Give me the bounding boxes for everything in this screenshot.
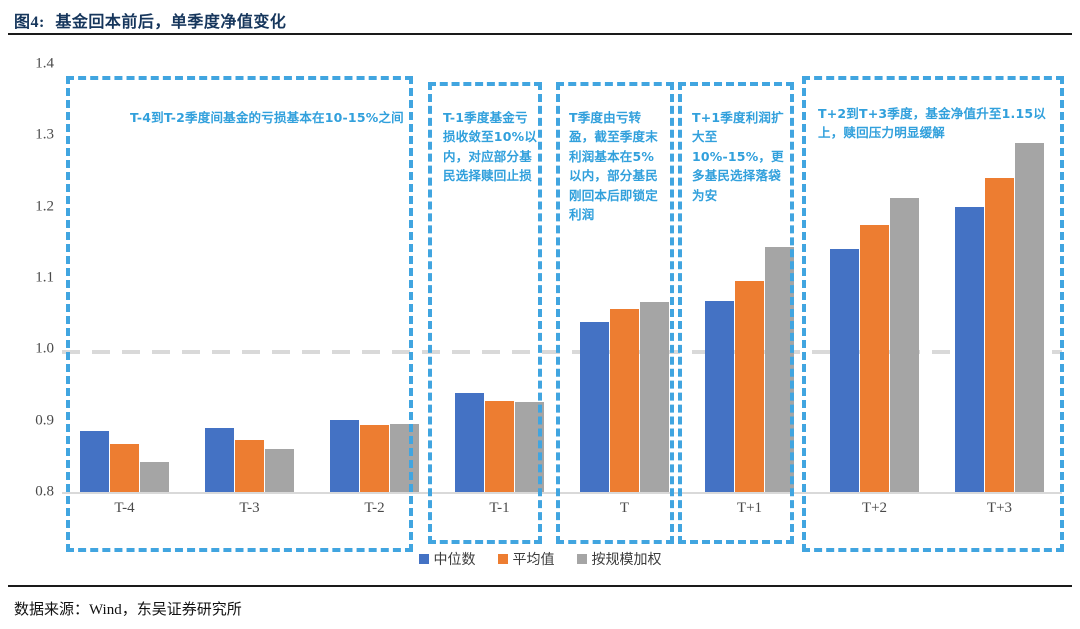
legend-swatch-icon (419, 554, 429, 564)
y-axis: 0.80.91.01.11.21.31.4 (0, 0, 62, 560)
legend-item-0[interactable]: 中位数 (419, 549, 476, 569)
bar-t-3-series-1 (235, 440, 264, 492)
y-tick-label: 1.3 (35, 127, 54, 144)
bar-tplus3-series-0 (955, 207, 984, 492)
anno-tplus2-3-text: T+2到T+3季度，基金净值升至1.15以上，赎回压力明显缓解 (818, 104, 1048, 143)
x-tick-label: T+2 (862, 500, 887, 517)
legend-item-1[interactable]: 平均值 (498, 549, 555, 569)
bar-t-1-series-2 (515, 402, 544, 492)
bar-group-t-3 (205, 64, 294, 492)
bar-tplus2-series-0 (830, 249, 859, 492)
bar-t-2-series-0 (330, 420, 359, 492)
legend-label: 中位数 (434, 549, 476, 569)
title-divider (8, 33, 1072, 35)
bar-t-3-series-2 (265, 449, 294, 493)
bar-group-t-4 (80, 64, 169, 492)
x-tick-label: T (620, 500, 629, 517)
bar-tplus1-series-0 (705, 301, 734, 492)
y-tick-label: 1.2 (35, 198, 54, 215)
chart-legend: 中位数平均值按规模加权 (0, 549, 1080, 569)
bar-tplus2-series-1 (860, 225, 889, 493)
x-axis-line (62, 492, 1062, 494)
legend-item-2[interactable]: 按规模加权 (577, 549, 662, 569)
bar-tplus2-series-2 (890, 198, 919, 492)
anno-t1-text: T-1季度基金亏损收敛至10%以内，对应部分基民选择赎回止损 (443, 108, 538, 186)
y-tick-label: 1.0 (35, 341, 54, 358)
legend-label: 平均值 (513, 549, 555, 569)
bar-t-2-series-2 (390, 424, 419, 492)
bar-tplus3-series-1 (985, 178, 1014, 492)
anno-tplus1-text: T+1季度利润扩大至10%-15%，更多基民选择落袋为安 (692, 108, 787, 205)
x-tick-label: T-1 (489, 500, 509, 517)
bar-t-series-2 (640, 302, 669, 492)
bar-tplus3-series-2 (1015, 143, 1044, 492)
legend-label: 按规模加权 (592, 549, 662, 569)
bar-t-series-0 (580, 322, 609, 492)
bar-t-1-series-0 (455, 393, 484, 492)
bar-tplus1-series-1 (735, 281, 764, 492)
bar-group-t-2 (330, 64, 419, 492)
bar-t-3-series-0 (205, 428, 234, 492)
y-tick-label: 0.8 (35, 484, 54, 501)
x-tick-label: T-2 (364, 500, 384, 517)
x-tick-label: T-4 (114, 500, 134, 517)
bar-t-1-series-1 (485, 401, 514, 492)
footer-divider (8, 585, 1072, 587)
y-tick-label: 1.4 (35, 56, 54, 73)
x-tick-label: T-3 (239, 500, 259, 517)
bar-t-4-series-0 (80, 431, 109, 492)
y-tick-label: 0.9 (35, 412, 54, 429)
bar-t-series-1 (610, 309, 639, 492)
x-tick-label: T+3 (987, 500, 1012, 517)
legend-swatch-icon (577, 554, 587, 564)
source-note: 数据来源：Wind，东吴证券研究所 (14, 598, 242, 619)
anno-t-text: T季度由亏转盈，截至季度末利润基本在5%以内，部分基民刚回本后即锁定利润 (569, 108, 664, 224)
anno-t4-t2-text: T-4到T-2季度间基金的亏损基本在10-15%之间 (130, 108, 410, 127)
bar-tplus1-series-2 (765, 247, 794, 492)
bar-t-4-series-1 (110, 444, 139, 493)
x-tick-label: T+1 (737, 500, 762, 517)
y-tick-label: 1.1 (35, 270, 54, 287)
figure-page: 图4: 基金回本前后，单季度净值变化 0.80.91.01.11.21.31.4… (0, 0, 1080, 629)
legend-swatch-icon (498, 554, 508, 564)
bar-t-2-series-1 (360, 425, 389, 492)
figure-title-text: 基金回本前后，单季度净值变化 (55, 14, 286, 31)
bar-t-4-series-2 (140, 462, 169, 492)
